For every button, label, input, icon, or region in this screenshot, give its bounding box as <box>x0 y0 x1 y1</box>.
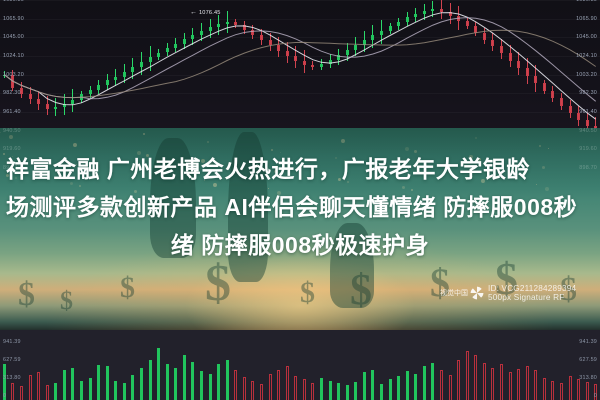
volume-bar <box>106 366 109 400</box>
volume-bar <box>346 385 349 400</box>
volume-tick-r: 0 <box>594 393 597 399</box>
volume-bar <box>174 368 177 400</box>
volume-bar <box>483 363 486 400</box>
bokeh-dot <box>9 135 13 139</box>
volume-tick-r: 627.59 <box>579 357 597 363</box>
price-tick-l: 1045.00 <box>3 34 24 40</box>
bokeh-dot <box>207 141 209 143</box>
volume-bar <box>20 386 23 400</box>
price-tick-l: 1024.10 <box>3 53 24 59</box>
volume-bar <box>311 383 314 400</box>
watermark-license: 500px Signature RF <box>488 293 576 302</box>
volume-bar <box>217 364 220 400</box>
volume-tick-l: 0 <box>3 393 6 399</box>
volume-bar <box>371 370 374 400</box>
volume-bar <box>491 368 494 400</box>
volume-bar <box>414 374 417 400</box>
volume-bar <box>543 378 546 400</box>
volume-bar <box>337 383 340 400</box>
watermark-brand-label: 视觉中国 <box>440 288 468 298</box>
bokeh-dot <box>0 132 1 133</box>
volume-bar <box>474 355 477 400</box>
volume-bar <box>46 385 49 400</box>
price-tick-l: 1065.90 <box>3 16 24 22</box>
volume-bar <box>431 363 434 400</box>
volume-bar <box>517 369 520 400</box>
volume-bar <box>286 366 289 400</box>
volume-bar <box>397 376 400 400</box>
volume-tick-l: 941.39 <box>3 339 21 345</box>
volume-bar <box>406 371 409 400</box>
volume-bar <box>269 374 272 400</box>
arrow-left-icon: ← <box>190 9 197 16</box>
volume-bar <box>509 372 512 400</box>
volume-bar <box>251 381 254 400</box>
price-tick-l: 961.40 <box>3 109 21 115</box>
volume-bar <box>320 378 323 400</box>
dollar-sign-icon: $ <box>60 288 73 314</box>
watermark-id: ID: VCG211284289394 <box>488 284 576 293</box>
volume-bar <box>80 381 83 400</box>
price-tick-l: 982.30 <box>3 90 21 96</box>
bokeh-dot <box>73 143 77 147</box>
bokeh-dot <box>143 133 145 135</box>
dollar-sign-icon: $ <box>205 258 231 310</box>
volume-bar <box>89 378 92 400</box>
volume-bar <box>157 348 160 400</box>
volume-bar <box>449 375 452 400</box>
volume-tick-l: 627.59 <box>3 357 21 363</box>
volume-bar <box>586 382 589 400</box>
volume-bar <box>380 384 383 400</box>
volume-bar <box>466 351 469 400</box>
volume-tick-r: 313.80 <box>579 375 597 381</box>
headline-line-1: 祥富金融 广州老博会火热进行，广报老年大学银龄 <box>6 150 594 188</box>
price-tick-r: 1065.90 <box>576 16 597 22</box>
bokeh-dot <box>539 145 541 147</box>
volume-bar <box>551 381 554 400</box>
volume-bar <box>389 379 392 400</box>
watermark-logo: 视觉中国 <box>440 286 484 300</box>
volume-tick-r: 941.39 <box>579 339 597 345</box>
headline-line-2: 场测评多款创新产品 AI伴侣会聊天懂情绪 防摔服008秒 <box>6 188 594 226</box>
price-tick-l: 1086.80 <box>3 0 24 3</box>
volume-bar <box>500 364 503 400</box>
price-tick-l: 940.50 <box>3 128 21 134</box>
bokeh-dot <box>548 148 549 149</box>
volume-bar <box>114 381 117 400</box>
headline-line-3: 绪 防摔服008秒极速护身 <box>6 226 594 264</box>
price-tick-r: 1045.00 <box>576 34 597 40</box>
price-tick-l: 1003.20 <box>3 72 24 78</box>
price-marker-annotation: ← 1076.45 <box>190 9 221 16</box>
volume-bar <box>560 383 563 400</box>
volume-bar <box>166 364 169 400</box>
pinwheel-icon <box>470 286 484 300</box>
volume-bar <box>29 375 32 400</box>
screenshot-stage: ← 1076.45 $$$$$$$$$ 941.39941.39627.5962… <box>0 0 600 400</box>
volume-bar <box>526 366 529 400</box>
bokeh-dot <box>475 137 477 139</box>
dollar-sign-icon: $ <box>300 278 315 308</box>
volume-bar <box>294 376 297 400</box>
volume-bar <box>149 360 152 400</box>
volume-chart-panel: 941.39941.39627.59627.59313.80313.8000 <box>0 330 600 400</box>
volume-bar <box>277 370 280 400</box>
volume-bar <box>234 370 237 400</box>
volume-bar <box>260 384 263 400</box>
volume-tick-l: 313.80 <box>3 375 21 381</box>
dollar-sign-icon: $ <box>120 273 135 303</box>
volume-bar <box>226 360 229 400</box>
price-tick-r: 1003.20 <box>576 72 597 78</box>
volume-bar <box>183 355 186 400</box>
dollar-sign-icon: $ <box>350 268 372 312</box>
watermark: 视觉中国 ID: VCG211284289394 500px Signature… <box>440 284 576 303</box>
price-tick-r: 940.50 <box>579 128 597 134</box>
volume-bar <box>363 372 366 400</box>
volume-bar <box>131 375 134 400</box>
volume-bar <box>457 360 460 400</box>
volume-bar <box>577 379 580 400</box>
watermark-text: ID: VCG211284289394 500px Signature RF <box>488 284 576 303</box>
volume-bar <box>191 362 194 400</box>
volume-bar <box>54 383 57 400</box>
volume-bar <box>209 374 212 400</box>
dollar-sign-icon: $ <box>18 278 35 312</box>
volume-bar <box>11 383 14 400</box>
volume-bar <box>37 372 40 400</box>
volume-bar <box>354 382 357 400</box>
volume-bar <box>303 379 306 400</box>
price-tick-r: 982.30 <box>579 90 597 96</box>
volume-bar <box>243 377 246 400</box>
price-tick-r: 1086.80 <box>576 0 597 3</box>
volume-bar <box>200 371 203 400</box>
volume-bar <box>534 370 537 400</box>
volume-bar <box>140 368 143 400</box>
price-tick-r: 961.40 <box>579 109 597 115</box>
volume-bar <box>71 368 74 400</box>
marker-value: 1076.45 <box>199 10 221 16</box>
volume-bar <box>423 366 426 400</box>
volume-bar <box>569 376 572 400</box>
volume-bar <box>440 370 443 400</box>
headline-block: 祥富金融 广州老博会火热进行，广报老年大学银龄 场测评多款创新产品 AI伴侣会聊… <box>0 150 600 264</box>
bokeh-dot <box>341 139 345 143</box>
price-tick-r: 1024.10 <box>576 53 597 59</box>
volume-bar <box>123 383 126 400</box>
volume-bar <box>97 365 100 400</box>
volume-bar <box>329 381 332 400</box>
volume-bar <box>63 370 66 400</box>
